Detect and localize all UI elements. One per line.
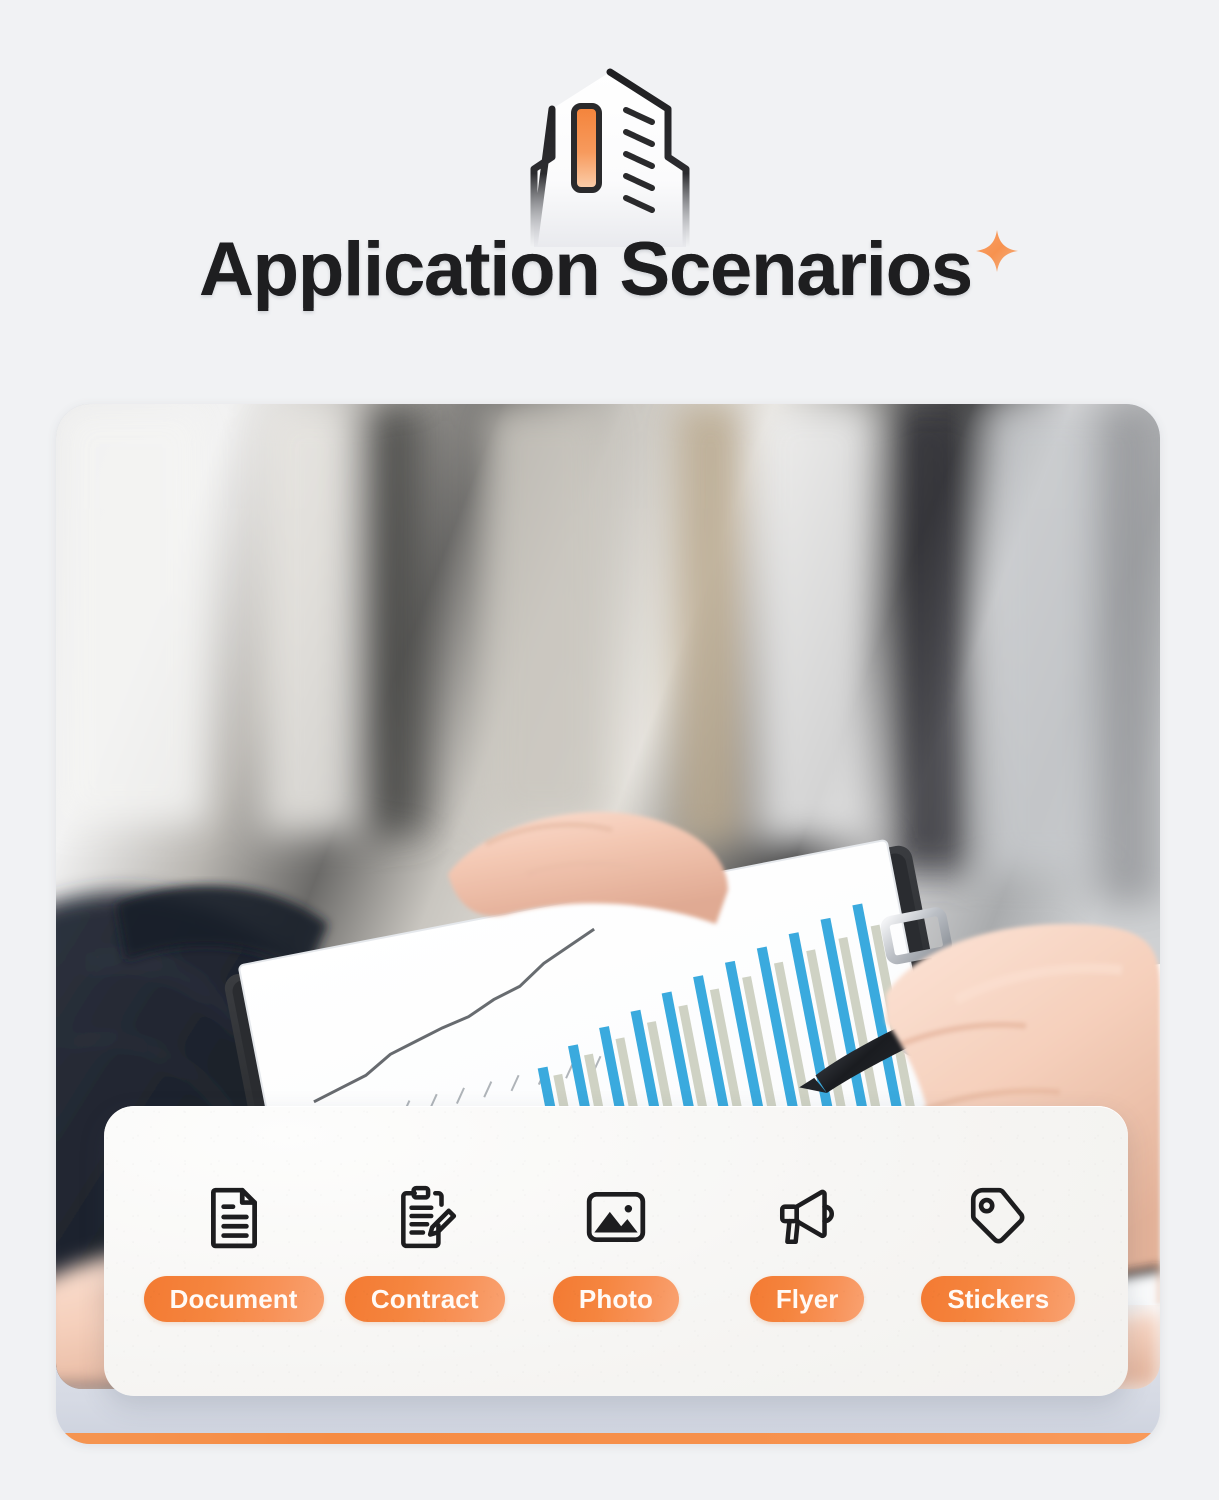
scenarios-card: Document: [104, 1106, 1128, 1396]
scenario-item-contract[interactable]: Contract: [332, 1180, 518, 1322]
scenario-pill-document[interactable]: Document: [144, 1276, 324, 1322]
scenario-item-stickers[interactable]: Stickers: [905, 1180, 1091, 1322]
image-icon: [579, 1180, 653, 1254]
title-row: Application Scenarios: [0, 232, 1219, 308]
page-title: Application Scenarios: [199, 232, 972, 308]
card-accent-stripe: [56, 1433, 1160, 1444]
scenario-item-flyer[interactable]: Flyer: [714, 1180, 900, 1322]
scenario-pill-contract[interactable]: Contract: [345, 1276, 505, 1322]
building-skyscraper-icon: [500, 62, 720, 252]
scenario-item-document[interactable]: Document: [141, 1180, 327, 1322]
photo-card: 1/1/20161/2/2016 1/3/20161/4/2016 1/5/20…: [56, 404, 1160, 1444]
clipboard-pencil-icon: [388, 1180, 462, 1254]
document-icon: [197, 1180, 271, 1254]
scenario-pill-stickers[interactable]: Stickers: [921, 1276, 1075, 1322]
scenario-item-photo[interactable]: Photo: [523, 1180, 709, 1322]
megaphone-icon: [770, 1180, 844, 1254]
price-tag-icon: [961, 1180, 1035, 1254]
sparkle-icon: [974, 228, 1020, 274]
scenario-list: Document: [104, 1106, 1128, 1396]
scenario-pill-photo[interactable]: Photo: [553, 1276, 679, 1322]
application-scenarios-page: Application Scenarios: [0, 0, 1219, 1500]
scenario-pill-flyer[interactable]: Flyer: [750, 1276, 865, 1322]
header: Application Scenarios: [0, 0, 1219, 378]
